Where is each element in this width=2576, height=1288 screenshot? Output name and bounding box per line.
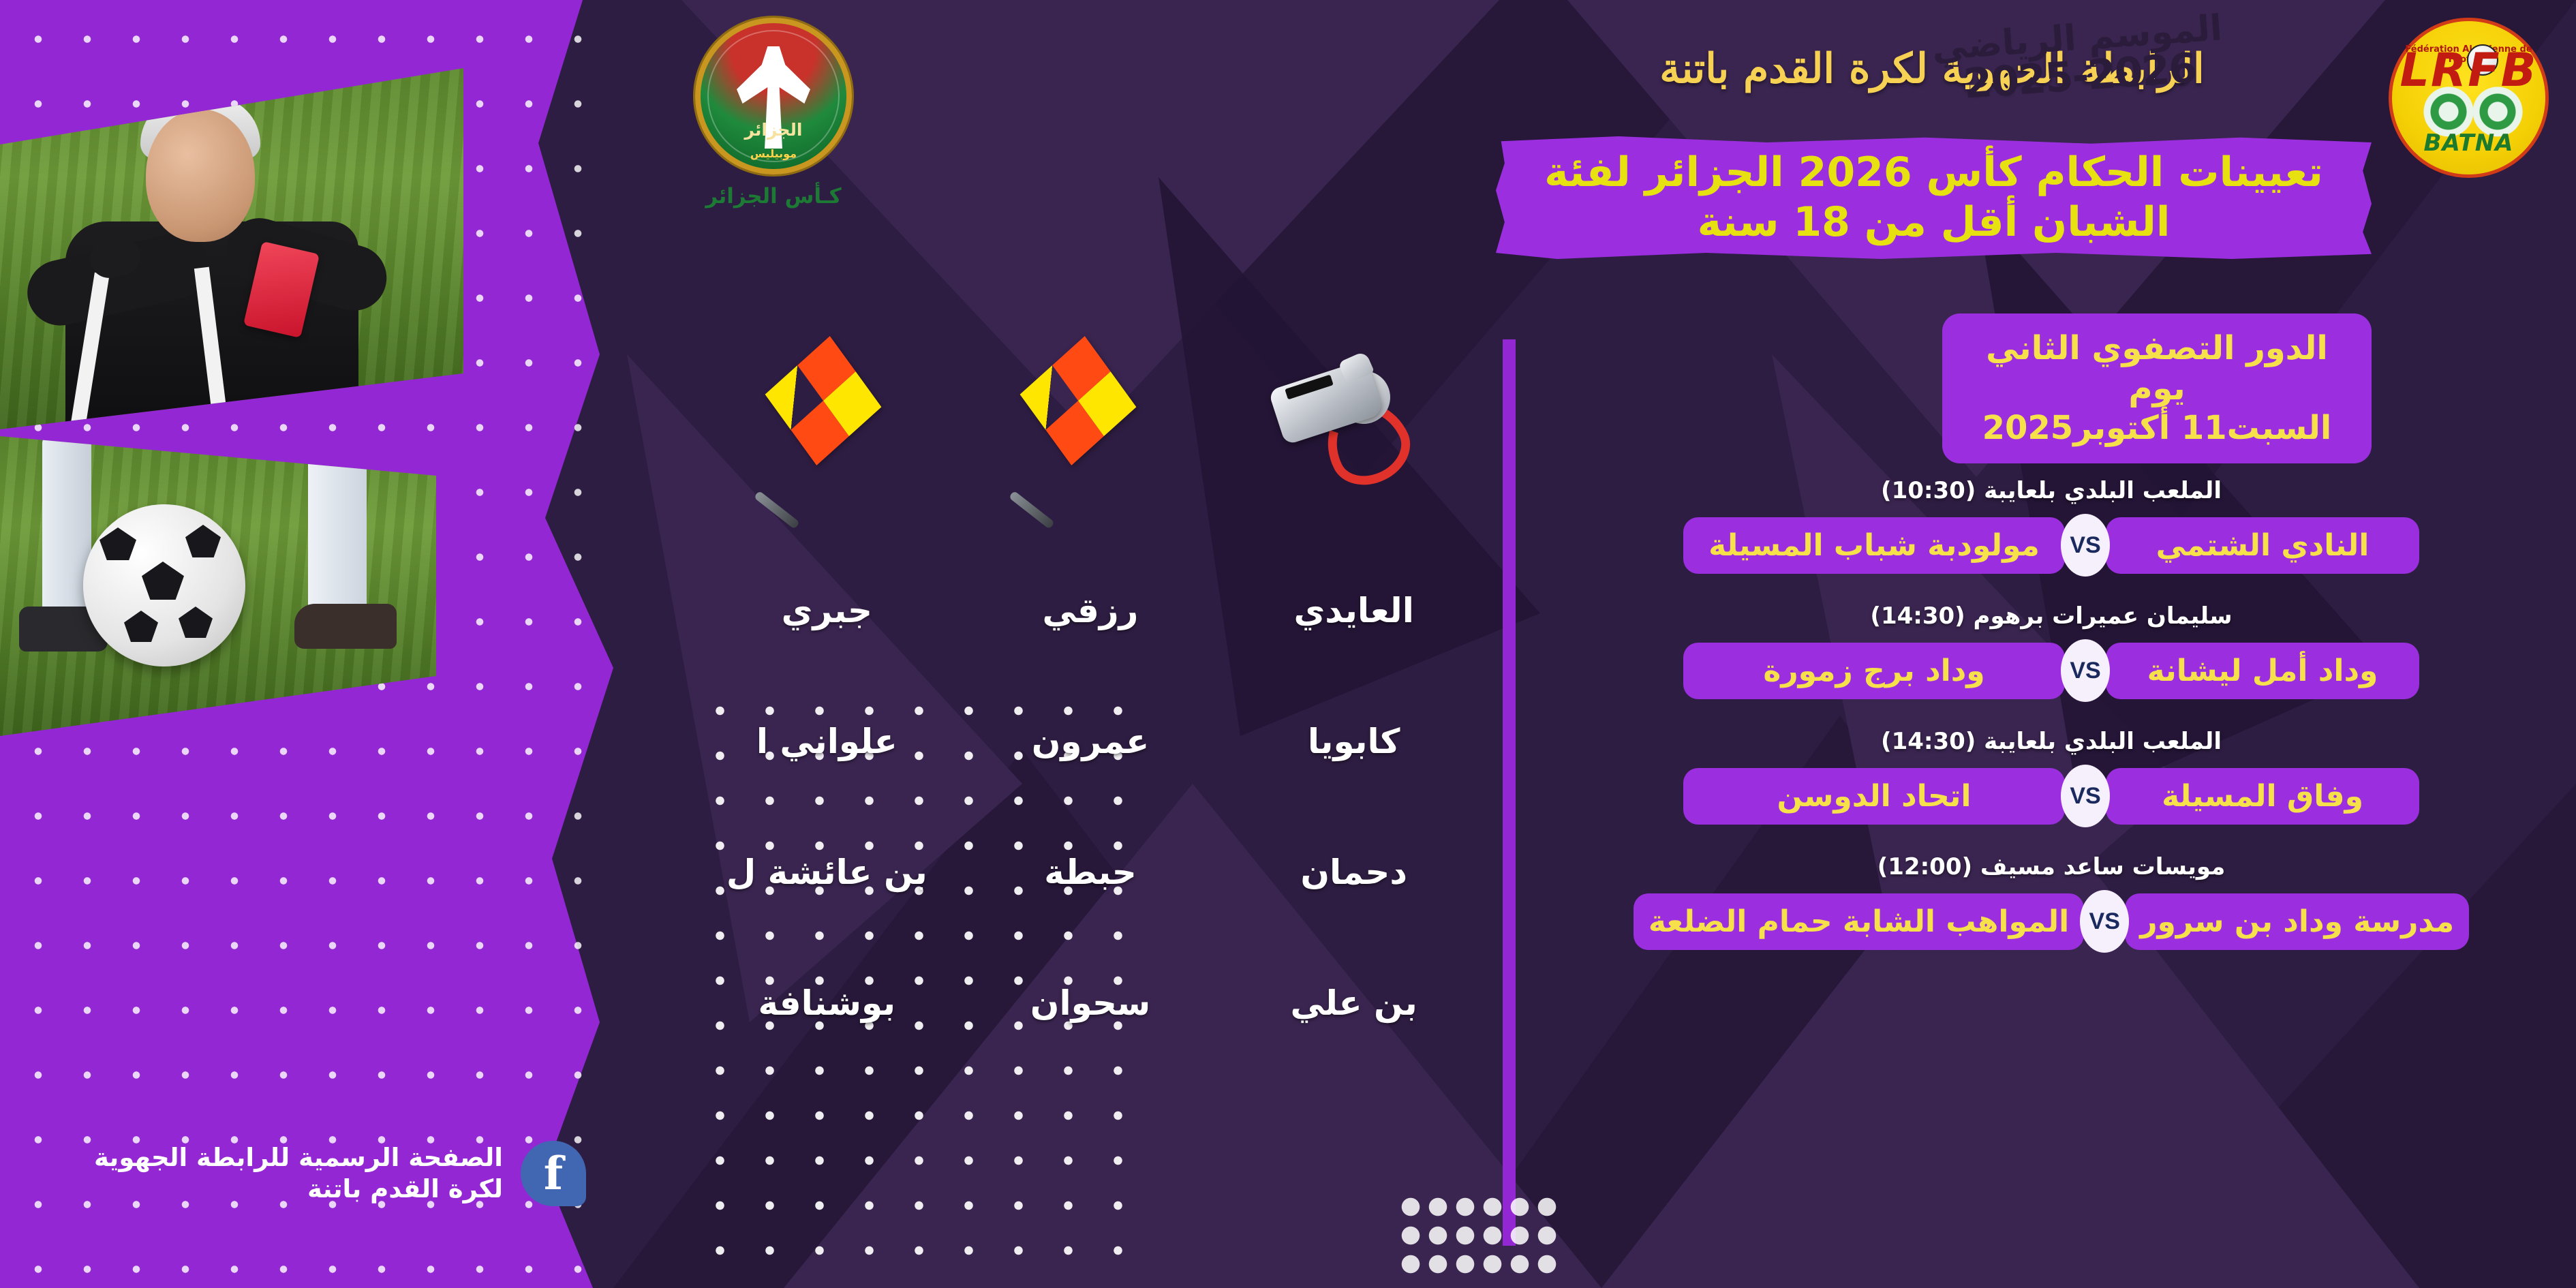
referee-assist2: دحمان bbox=[1222, 853, 1486, 892]
facebook-icon[interactable]: f bbox=[521, 1141, 586, 1206]
match-item: الملعب البلدي بلعايبة (10:30) النادي الش… bbox=[1554, 477, 2549, 577]
algeria-cup-logo: الجزائر موبيليس كـأس الجزائر bbox=[688, 18, 859, 222]
footer-text: الصفحة الرسمية للرابطة الجهوية لكرة القد… bbox=[94, 1142, 503, 1206]
main-title-banner: تعيينات الحكام كأس 2026 الجزائر لفئة الش… bbox=[1496, 136, 2372, 259]
referee-names-grid: العايدي رزقي جبري كابويا عمرون علواني ا … bbox=[695, 545, 1486, 1069]
referee-assist1: سحوان bbox=[959, 983, 1223, 1023]
referee-assist1: عمرون bbox=[959, 722, 1223, 761]
match-item: الملعب البلدي بلعايبة (14:30) وفاق المسي… bbox=[1554, 728, 2549, 827]
referee-icons-row bbox=[736, 334, 1472, 538]
assistant-referee-flag-icon bbox=[1002, 348, 1131, 504]
match-item: مويسات ساعد مسيف (12:00) مدرسة وداد بن س… bbox=[1554, 853, 2549, 953]
referee-assist2: العايدي bbox=[1222, 591, 1486, 630]
match-away-team: وداد أمل ليشانة bbox=[2106, 643, 2419, 699]
round-date-banner: الدور التصفوي الثاني يوم السبت11 أكتوبر2… bbox=[1942, 313, 2372, 463]
footer-line-2: لكرة القدم باتنة bbox=[94, 1174, 503, 1205]
referee-main: جبري bbox=[695, 591, 959, 630]
referee-row: دحمان حبطة بن عائشة ل bbox=[695, 807, 1486, 938]
referee-whistle-icon bbox=[1261, 343, 1417, 500]
match-venue: الملعب البلدي بلعايبة (10:30) bbox=[1554, 477, 2549, 504]
referee-main: بن عائشة ل bbox=[695, 853, 959, 892]
match-away-team: مدرسة وداد بن سرور bbox=[2125, 893, 2469, 950]
referee-main: بوشنافة bbox=[695, 983, 959, 1023]
referee-main: علواني ا bbox=[695, 722, 959, 761]
season-title: الموسم الرياضي 2025-2026 bbox=[1927, 10, 2231, 107]
player-boot bbox=[294, 604, 397, 649]
match-home-team: وداد برج زمورة bbox=[1683, 643, 2065, 699]
assistant-referee-flag-icon bbox=[747, 348, 876, 504]
referee-row: العايدي رزقي جبري bbox=[695, 545, 1486, 676]
cup-logo-disc: الجزائر موبيليس bbox=[695, 18, 852, 174]
vs-badge: VS bbox=[2061, 514, 2110, 577]
ball-panel bbox=[179, 607, 213, 638]
flag-cloth bbox=[765, 336, 882, 465]
bottom-dot-pattern bbox=[1397, 1193, 1561, 1281]
match-teams: النادي الشتمي VS مولودبة شباب المسيلة bbox=[1554, 514, 2549, 577]
ball-panel bbox=[142, 562, 184, 600]
referee-assist2: بن علي bbox=[1222, 983, 1486, 1023]
vs-badge: VS bbox=[2061, 765, 2110, 827]
main-title-line-2: الشبان أقل من 18 سنة bbox=[1698, 198, 2171, 246]
vs-badge: VS bbox=[2080, 890, 2129, 953]
round-line-2: السبت11 أكتوبر2025 bbox=[1982, 409, 2332, 447]
referee-assist2: كابويا bbox=[1222, 722, 1486, 761]
round-line-1: الدور التصفوي الثاني يوم bbox=[1986, 329, 2328, 408]
cup-logo-caption: كـأس الجزائر bbox=[688, 184, 859, 209]
flag-handle bbox=[754, 491, 800, 530]
flag-handle bbox=[1009, 491, 1055, 530]
vertical-divider bbox=[1503, 339, 1516, 1246]
ball-panel bbox=[99, 527, 136, 560]
ball-panel bbox=[124, 611, 158, 642]
match-teams: وداد أمل ليشانة VS وداد برج زمورة bbox=[1554, 639, 2549, 702]
match-home-team: اتحاد الدوسن bbox=[1683, 768, 2065, 825]
referee-row: بن علي سحوان بوشنافة bbox=[695, 938, 1486, 1069]
match-away-team: وفاق المسيلة bbox=[2106, 768, 2419, 825]
referee-assist1: حبطة bbox=[959, 853, 1223, 892]
flag-cloth bbox=[1020, 336, 1137, 465]
main-title-line-1: تعيينات الحكام كأس 2026 الجزائر لفئة bbox=[1544, 149, 2323, 196]
referee-row: كابويا عمرون علواني ا bbox=[695, 676, 1486, 807]
match-venue: الملعب البلدي بلعايبة (14:30) bbox=[1554, 728, 2549, 755]
match-venue: مويسات ساعد مسيف (12:00) bbox=[1554, 853, 2549, 880]
footer-credit: f الصفحة الرسمية للرابطة الجهوية لكرة ال… bbox=[27, 1141, 586, 1206]
lrfb-batna-logo: Fédération Algérienne de Football LRFB B… bbox=[2389, 18, 2549, 178]
matches-list: الملعب البلدي بلعايبة (10:30) النادي الش… bbox=[1554, 477, 2549, 979]
vs-badge: VS bbox=[2061, 639, 2110, 702]
footer-line-1: الصفحة الرسمية للرابطة الجهوية bbox=[94, 1142, 503, 1174]
match-teams: وفاق المسيلة VS اتحاد الدوسن bbox=[1554, 765, 2549, 827]
match-home-team: المواهب الشابة حمام الضلعة bbox=[1634, 893, 2084, 950]
cup-logo-arabic-mark: الجزائر bbox=[701, 120, 846, 140]
facebook-glyph: f bbox=[544, 1151, 563, 1196]
match-teams: مدرسة وداد بن سرور VS المواهب الشابة حما… bbox=[1554, 890, 2549, 953]
cup-logo-sponsor: موبيليس bbox=[701, 147, 846, 160]
referee-head bbox=[146, 109, 255, 242]
match-away-team: النادي الشتمي bbox=[2106, 517, 2419, 574]
match-item: سليمان عميرات برهوم (14:30) وداد أمل ليش… bbox=[1554, 602, 2549, 702]
match-home-team: مولودبة شباب المسيلة bbox=[1683, 517, 2065, 574]
poster-root: الموسم الرياضي 2025-2026 bbox=[0, 0, 2576, 1288]
lrfb-city: BATNA bbox=[2392, 129, 2545, 157]
referee-assist1: رزقي bbox=[959, 591, 1223, 630]
ball-panel bbox=[185, 525, 221, 557]
match-venue: سليمان عميرات برهوم (14:30) bbox=[1554, 602, 2549, 630]
soccer-ball-icon bbox=[83, 504, 245, 666]
lrfb-letters: LRFB bbox=[2392, 52, 2545, 89]
